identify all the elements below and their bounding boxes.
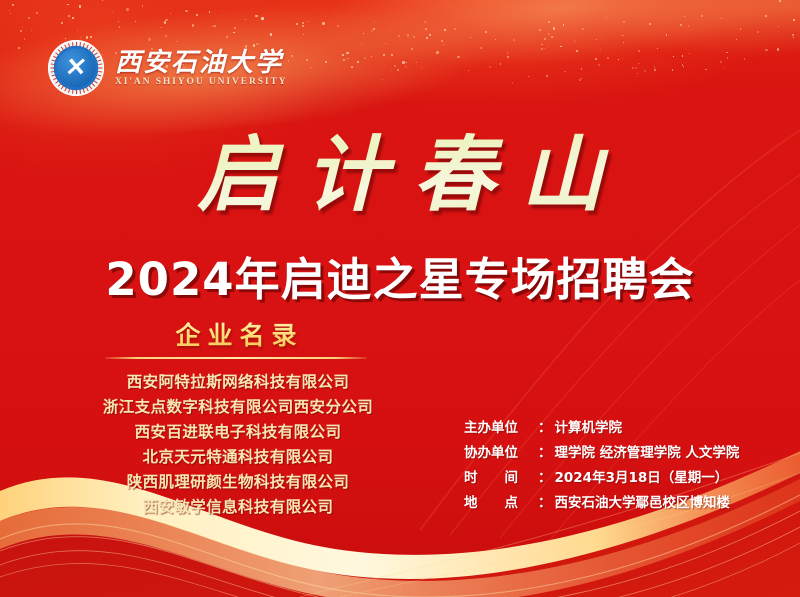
university-names: 西安石油大学 XI'AN SHIYOU UNIVERSITY xyxy=(115,49,288,87)
company-list-item: 西安敏学信息科技有限公司 xyxy=(68,497,408,518)
info-value: 西安石油大学鄢邑校区博知楼 xyxy=(555,494,731,513)
seal-glyph: ✕ xyxy=(64,56,88,81)
info-label: 主办单位 xyxy=(464,419,538,438)
info-row: 时 间：2024年3月18日（星期一） xyxy=(464,469,739,488)
info-colon: ： xyxy=(538,419,552,438)
company-list-item: 西安阿特拉斯网络科技有限公司 xyxy=(68,372,408,393)
info-label: 地 点 xyxy=(464,494,538,513)
info-label: 时 间 xyxy=(464,469,538,488)
info-row: 协办单位：理学院 经济管理学院 人文学院 xyxy=(464,444,739,463)
company-list-item: 陕西肌理研颜生物科技有限公司 xyxy=(68,472,408,493)
company-list: 西安阿特拉斯网络科技有限公司浙江支点数字科技有限公司西安分公司西安百进联电子科技… xyxy=(68,372,408,518)
company-list-item: 浙江支点数字科技有限公司西安分公司 xyxy=(68,397,408,418)
seal-inner-disc: ✕ xyxy=(57,49,96,88)
info-colon: ： xyxy=(538,444,552,463)
company-list-item: 北京天元特通科技有限公司 xyxy=(68,447,408,468)
event-info-block: 主办单位：计算机学院协办单位：理学院 经济管理学院 人文学院时 间：2024年3… xyxy=(464,419,739,513)
companies-section-heading: 企业名录 xyxy=(105,316,367,352)
university-name-en: XI'AN SHIYOU UNIVERSITY xyxy=(115,77,288,87)
info-row: 主办单位：计算机学院 xyxy=(464,419,739,438)
university-name-cn: 西安石油大学 xyxy=(115,49,288,76)
info-value: 计算机学院 xyxy=(555,419,623,438)
university-seal-logo: ✕ xyxy=(48,40,104,96)
calligraphy-title: 启计春山 xyxy=(0,133,800,219)
info-value: 2024年3月18日（星期一） xyxy=(555,469,729,488)
company-list-item: 西安百进联电子科技有限公司 xyxy=(68,422,408,443)
poster-canvas: ✕ 西安石油大学 XI'AN SHIYOU UNIVERSITY 启计春山 20… xyxy=(0,0,800,597)
info-colon: ： xyxy=(538,494,552,513)
event-subtitle: 2024年启迪之星专场招聘会 xyxy=(0,243,800,308)
info-value: 理学院 经济管理学院 人文学院 xyxy=(555,444,740,463)
info-row: 地 点：西安石油大学鄢邑校区博知楼 xyxy=(464,494,739,513)
section-divider xyxy=(105,357,367,359)
university-branding: ✕ 西安石油大学 XI'AN SHIYOU UNIVERSITY xyxy=(48,40,288,96)
info-label: 协办单位 xyxy=(464,444,538,463)
info-colon: ： xyxy=(538,469,552,488)
